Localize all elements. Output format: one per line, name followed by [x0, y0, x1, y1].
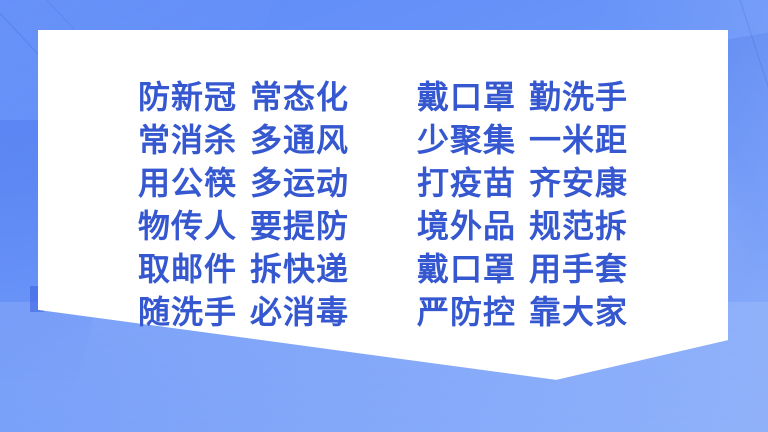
poster-stage: 防新冠 常态化 常消杀 多通风 用公筷 多运动 物传人 要提防 取邮件 拆快递 … — [0, 0, 768, 432]
slogan-phrase: 物传人 — [138, 206, 237, 246]
slogan-phrase: 境外品 — [417, 206, 516, 246]
slogan-row: 防新冠 常态化 — [138, 77, 349, 117]
slogan-phrase: 常消杀 — [138, 120, 237, 160]
slogan-phrase: 用手套 — [529, 249, 628, 289]
slogan-phrase: 拆快递 — [250, 249, 349, 289]
slogan-phrase: 规范拆 — [529, 206, 628, 246]
slogan-row: 随洗手 必消毒 — [138, 292, 349, 332]
slogan-phrase: 必消毒 — [250, 292, 349, 332]
slogan-phrase: 要提防 — [250, 206, 349, 246]
slogan-row: 严防控 靠大家 — [417, 292, 628, 332]
slogan-row: 戴口罩 用手套 — [417, 249, 628, 289]
slogan-phrase: 用公筷 — [138, 163, 237, 203]
slogan-phrase: 严防控 — [417, 292, 516, 332]
slogan-phrase: 多通风 — [250, 120, 349, 160]
slogan-column-left: 防新冠 常态化 常消杀 多通风 用公筷 多运动 物传人 要提防 取邮件 拆快递 … — [138, 77, 349, 332]
slogan-phrase: 多运动 — [250, 163, 349, 203]
slogan-phrase: 一米距 — [529, 120, 628, 160]
slogan-phrase: 戴口罩 — [417, 77, 516, 117]
slogan-phrase: 齐安康 — [529, 163, 628, 203]
slogan-phrase: 取邮件 — [138, 249, 237, 289]
slogan-row: 用公筷 多运动 — [138, 163, 349, 203]
slogan-phrase: 常态化 — [250, 77, 349, 117]
slogan-grid: 防新冠 常态化 常消杀 多通风 用公筷 多运动 物传人 要提防 取邮件 拆快递 … — [38, 30, 728, 382]
slogan-phrase: 勤洗手 — [529, 77, 628, 117]
slogan-row: 少聚集 一米距 — [417, 120, 628, 160]
slogan-phrase: 戴口罩 — [417, 249, 516, 289]
slogan-row: 戴口罩 勤洗手 — [417, 77, 628, 117]
slogan-phrase: 少聚集 — [417, 120, 516, 160]
slogan-phrase: 防新冠 — [138, 77, 237, 117]
slogan-row: 取邮件 拆快递 — [138, 249, 349, 289]
slogan-column-right: 戴口罩 勤洗手 少聚集 一米距 打疫苗 齐安康 境外品 规范拆 戴口罩 用手套 … — [417, 77, 628, 332]
slogan-phrase: 随洗手 — [138, 292, 237, 332]
slogan-row: 打疫苗 齐安康 — [417, 163, 628, 203]
slogan-phrase: 打疫苗 — [417, 163, 516, 203]
slogan-phrase: 靠大家 — [529, 292, 628, 332]
slogan-row: 物传人 要提防 — [138, 206, 349, 246]
slogan-row: 境外品 规范拆 — [417, 206, 628, 246]
slogan-row: 常消杀 多通风 — [138, 120, 349, 160]
